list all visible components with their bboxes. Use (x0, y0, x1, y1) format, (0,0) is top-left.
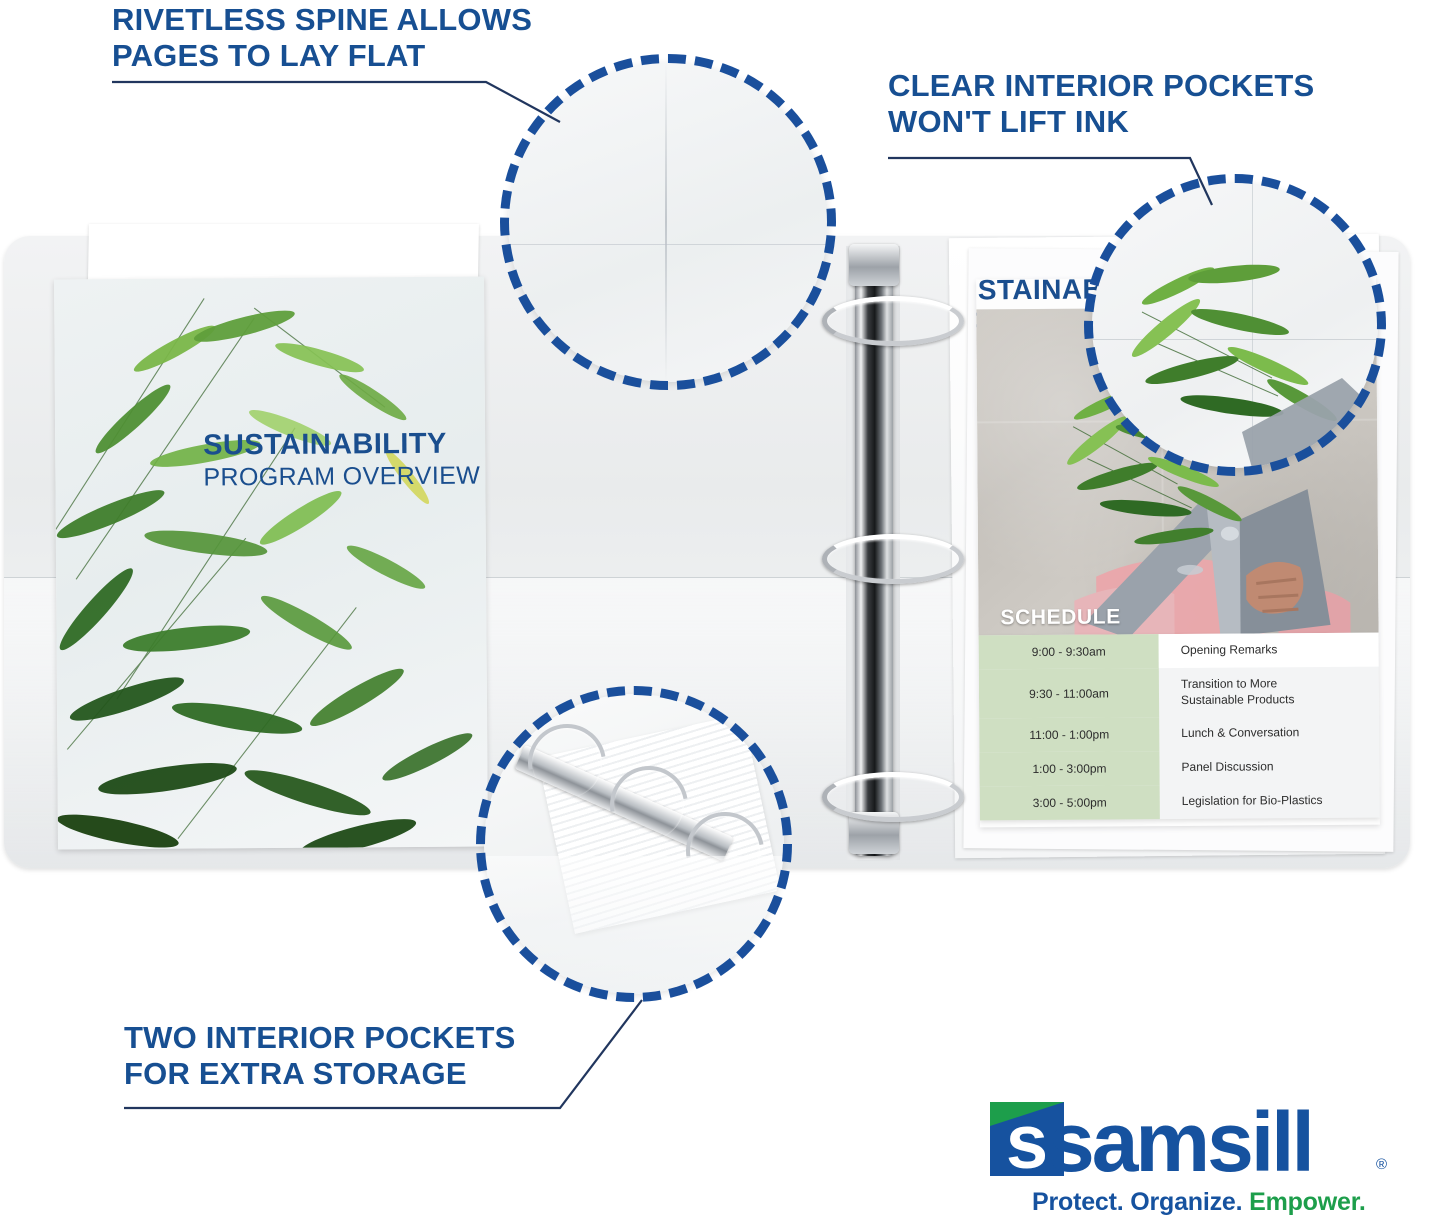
bamboo-illustration-left (54, 277, 488, 850)
schedule-time: 1:00 - 3:00pm (979, 751, 1159, 786)
cover-title: SUSTAINABILITY (203, 429, 480, 462)
schedule-time: 9:00 - 9:30am (979, 634, 1159, 669)
schedule-time: 11:00 - 1:00pm (979, 718, 1159, 753)
logo-tagline: Protect. Organize. Empower. (1032, 1188, 1366, 1217)
schedule-row: 9:30 - 11:00amTransition to More Sustain… (979, 666, 1379, 718)
registered-trademark-icon: ® (1376, 1156, 1387, 1173)
samsill-logo: s samsill ® Protect. Organize. Empower. (990, 1094, 1398, 1212)
schedule-table-body: 9:00 - 9:30amOpening Remarks9:30 - 11:00… (979, 633, 1380, 821)
logo-wordmark: samsill (1048, 1094, 1312, 1190)
leader-top-left (112, 82, 560, 122)
schedule-time: 9:30 - 11:00am (979, 668, 1159, 719)
schedule-description: Transition to More Sustainable Products (1159, 666, 1379, 717)
cover-title-block: SUSTAINABILITY PROGRAM OVERVIEW (203, 429, 480, 492)
binder-cover-insert-left: SUSTAINABILITY PROGRAM OVERVIEW (54, 277, 488, 850)
binder-ring-2 (822, 534, 964, 584)
schedule-description: Lunch & Conversation (1159, 716, 1379, 751)
schedule-time: 3:00 - 5:00pm (980, 785, 1160, 820)
callout-clear-pockets: CLEAR INTERIOR POCKETS WON'T LIFT INK (888, 68, 1314, 140)
callout-rivetless-spine: RIVETLESS SPINE ALLOWS PAGES TO LAY FLAT (112, 2, 532, 74)
schedule-row: 9:00 - 9:30amOpening Remarks (979, 633, 1379, 670)
schedule-row: 11:00 - 1:00pmLunch & Conversation (979, 716, 1379, 753)
schedule-description: Legislation for Bio-Plastics (1160, 784, 1380, 819)
schedule-table: 9:00 - 9:30amOpening Remarks9:30 - 11:00… (979, 633, 1380, 821)
schedule-description: Opening Remarks (1159, 633, 1379, 668)
tagline-protect-organize: Protect. Organize. (1032, 1188, 1249, 1216)
binder-ring-3 (822, 772, 964, 822)
magnified-view-spine (508, 62, 828, 382)
ring-release-lever-top (849, 244, 899, 286)
schedule-heading: SCHEDULE (1000, 605, 1120, 630)
callout-two-pockets: TWO INTERIOR POCKETS FOR EXTRA STORAGE (124, 1020, 516, 1092)
cover-subtitle: PROGRAM OVERVIEW (203, 463, 480, 492)
product-feature-image: SUSTAINABILITY PROGRAM OVERVIEW SUSTAINA… (0, 0, 1445, 1227)
schedule-description: Panel Discussion (1159, 750, 1379, 785)
schedule-row: 1:00 - 3:00pmPanel Discussion (979, 750, 1379, 787)
schedule-row: 3:00 - 5:00pmLegislation for Bio-Plastic… (980, 784, 1380, 821)
magnified-view-interior-pockets (484, 694, 784, 994)
tagline-empower: Empower. (1249, 1188, 1366, 1216)
magnified-view-clear-pocket (1092, 182, 1378, 468)
binder-ring-1 (822, 296, 964, 346)
